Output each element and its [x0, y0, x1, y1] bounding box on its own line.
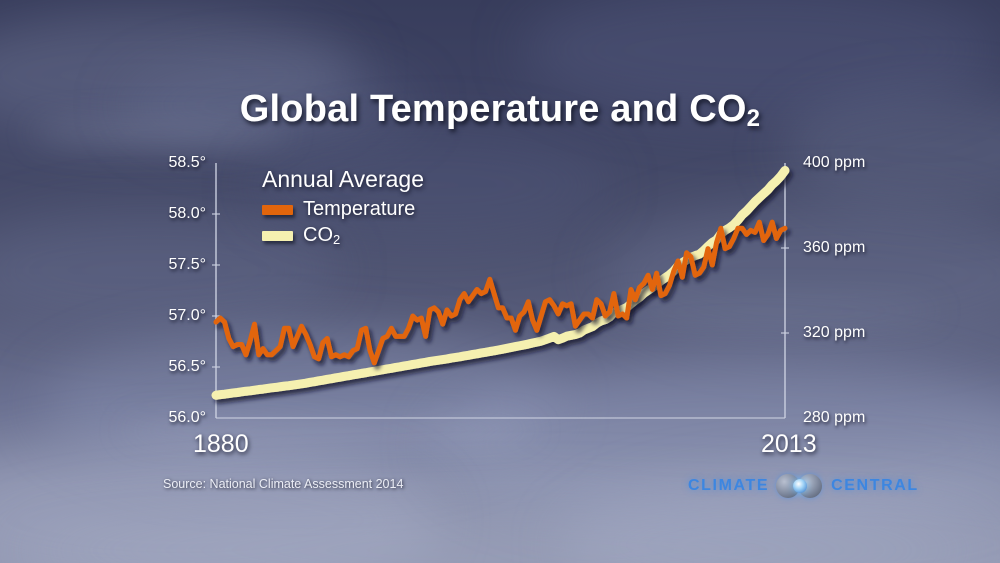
screenshot-root: Global Temperature and CO2 58.5°58.0°57.… — [0, 0, 1000, 563]
legend-swatch-temperature — [262, 205, 293, 215]
y-axis-right-tick: 280 ppm — [803, 409, 865, 427]
y-axis-left-tick: 58.0° — [150, 205, 206, 223]
legend-label-co2-subscript: 2 — [333, 232, 340, 247]
climate-central-logo[interactable]: CLIMATE CENTRAL — [688, 473, 919, 499]
y-axis-right-tick: 400 ppm — [803, 154, 865, 172]
x-axis-label-end: 2013 — [761, 430, 817, 459]
logo-word-climate: CLIMATE — [688, 477, 769, 495]
x-axis-label-start: 1880 — [193, 430, 249, 459]
legend-label-co2-text: CO — [303, 224, 333, 246]
chart-legend: Annual Average Temperature CO2 — [262, 166, 424, 247]
legend-label-temperature: Temperature — [303, 198, 415, 221]
legend-swatch-co2 — [262, 231, 293, 241]
source-note: Source: National Climate Assessment 2014 — [163, 477, 403, 491]
legend-heading: Annual Average — [262, 166, 424, 193]
logo-rings-icon — [776, 473, 824, 499]
y-axis-left-tick: 56.0° — [150, 409, 206, 427]
y-axis-right-tick: 360 ppm — [803, 239, 865, 257]
legend-label-co2: CO2 — [303, 224, 340, 247]
y-axis-right-tick: 320 ppm — [803, 324, 865, 342]
y-axis-left-tick: 57.0° — [150, 307, 206, 325]
y-axis-left-tick: 56.5° — [150, 358, 206, 376]
logo-word-central: CENTRAL — [831, 477, 919, 495]
legend-item-temperature[interactable]: Temperature — [262, 198, 424, 221]
y-axis-left-tick: 58.5° — [150, 154, 206, 172]
y-axis-left-tick: 57.5° — [150, 256, 206, 274]
legend-item-co2[interactable]: CO2 — [262, 224, 424, 247]
